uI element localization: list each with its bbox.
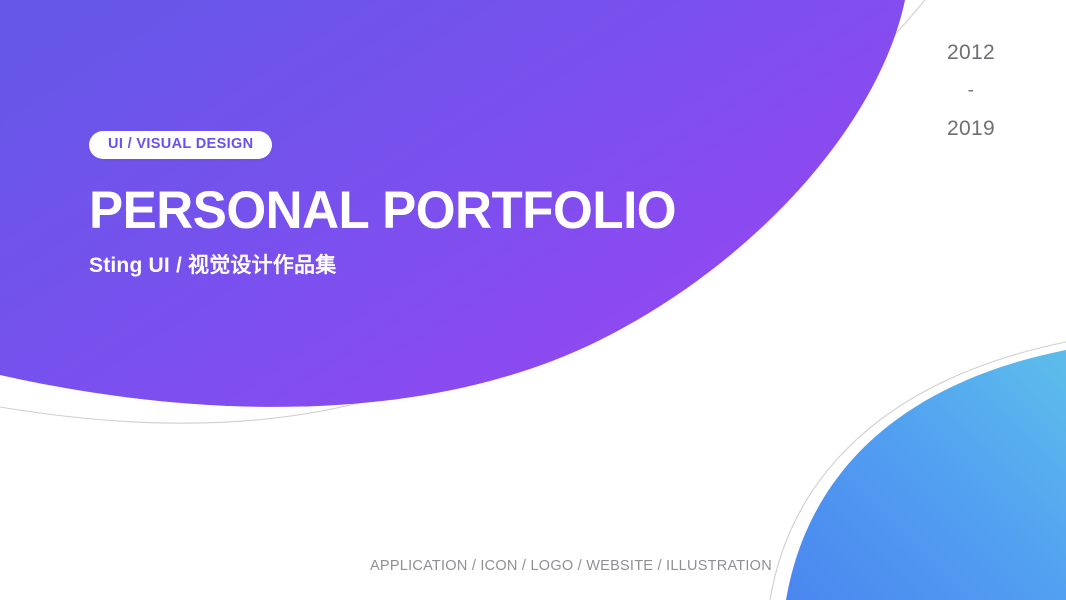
background-decoration	[0, 0, 1066, 600]
footer-caption: APPLICATION / ICON / LOGO / WEBSITE / IL…	[370, 558, 772, 574]
presentation-cover-slide: 2012 - 2019 UI / VISUAL DESIGN PERSONAL …	[0, 0, 1066, 600]
year-separator: -	[916, 72, 1026, 110]
year-start: 2012	[916, 34, 1026, 72]
title-block: UI / VISUAL DESIGN PERSONAL PORTFOLIO St…	[89, 131, 697, 278]
year-range: 2012 - 2019	[916, 34, 1026, 148]
blue-blob	[786, 350, 1066, 600]
year-end: 2019	[916, 110, 1026, 148]
page-title: PERSONAL PORTFOLIO	[89, 184, 676, 237]
category-badge: UI / VISUAL DESIGN	[89, 131, 272, 159]
page-subtitle: Sting UI / 视觉设计作品集	[89, 253, 697, 278]
